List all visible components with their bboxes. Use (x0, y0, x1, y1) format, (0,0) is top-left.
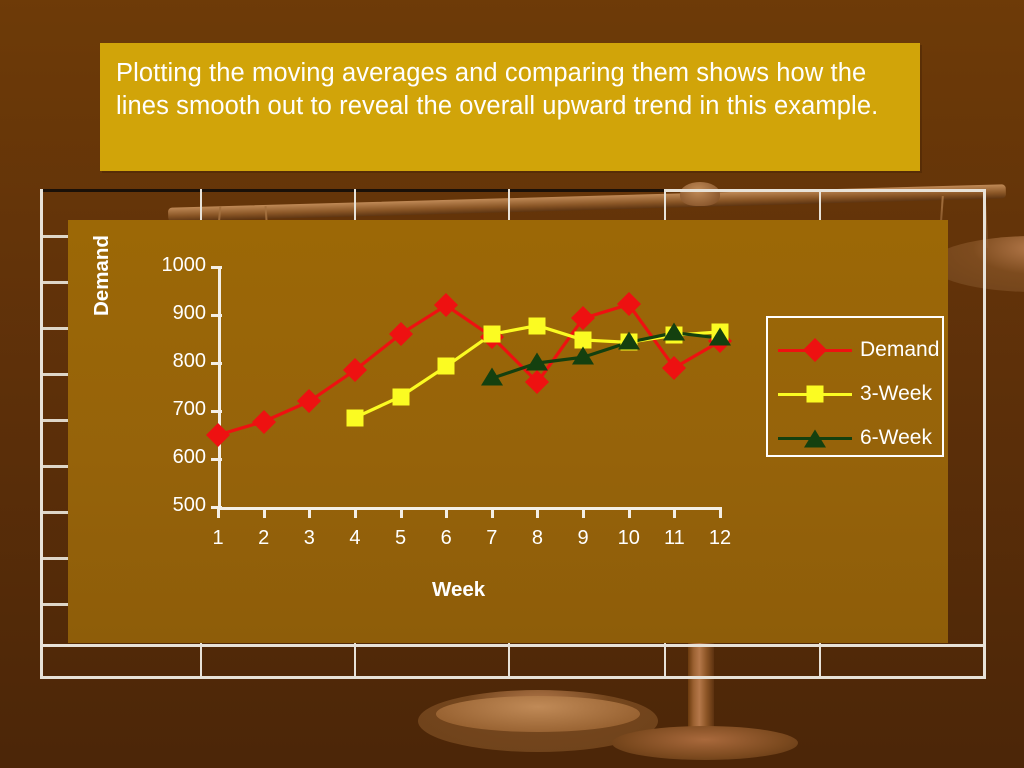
title-banner: Plotting the moving averages and compari… (100, 43, 920, 171)
y-axis-title: Demand (90, 235, 114, 316)
data-point-3-week-week-7 (483, 326, 500, 343)
triangle-marker-icon (804, 430, 826, 448)
chart-plot-area: 5006007008009001000 123456789101112 Dema… (68, 220, 948, 643)
legend-swatch-six-week (778, 428, 852, 448)
square-marker-icon (807, 386, 824, 403)
frame-top-dark (40, 189, 666, 192)
x-axis-title: Week (432, 578, 485, 602)
frame-mid-rail (40, 644, 986, 647)
diamond-marker-icon (803, 338, 827, 362)
legend-item-six-week[interactable]: 6-Week (768, 416, 942, 460)
legend-label-three-week: 3-Week (860, 382, 932, 406)
legend-label-demand: Demand (860, 338, 939, 362)
chart-legend: Demand 3-Week 6-Week (766, 316, 944, 457)
scale-pan-left-inner (436, 696, 640, 732)
data-point-6-week-week-9 (572, 347, 594, 365)
data-point-3-week-week-6 (438, 358, 455, 375)
legend-swatch-three-week (778, 384, 852, 404)
data-point-6-week-week-11 (663, 322, 685, 340)
data-point-6-week-week-10 (618, 332, 640, 350)
series-line-demand (218, 304, 720, 435)
data-point-6-week-week-12 (709, 328, 731, 346)
frame-right (983, 189, 986, 679)
frame-top-light (666, 189, 986, 192)
data-point-3-week-week-5 (392, 388, 409, 405)
data-point-3-week-week-8 (529, 317, 546, 334)
title-text: Plotting the moving averages and compari… (116, 57, 902, 123)
legend-swatch-demand (778, 340, 852, 360)
chart-panel: 5006007008009001000 123456789101112 Dema… (68, 220, 948, 643)
scale-base (612, 726, 798, 760)
data-point-6-week-week-7 (481, 368, 503, 386)
data-point-6-week-week-8 (526, 353, 548, 371)
data-point-3-week-week-4 (346, 409, 363, 426)
legend-label-six-week: 6-Week (860, 426, 932, 450)
legend-item-three-week[interactable]: 3-Week (768, 372, 942, 416)
legend-item-demand[interactable]: Demand (768, 328, 942, 372)
frame-bottom (40, 676, 986, 679)
